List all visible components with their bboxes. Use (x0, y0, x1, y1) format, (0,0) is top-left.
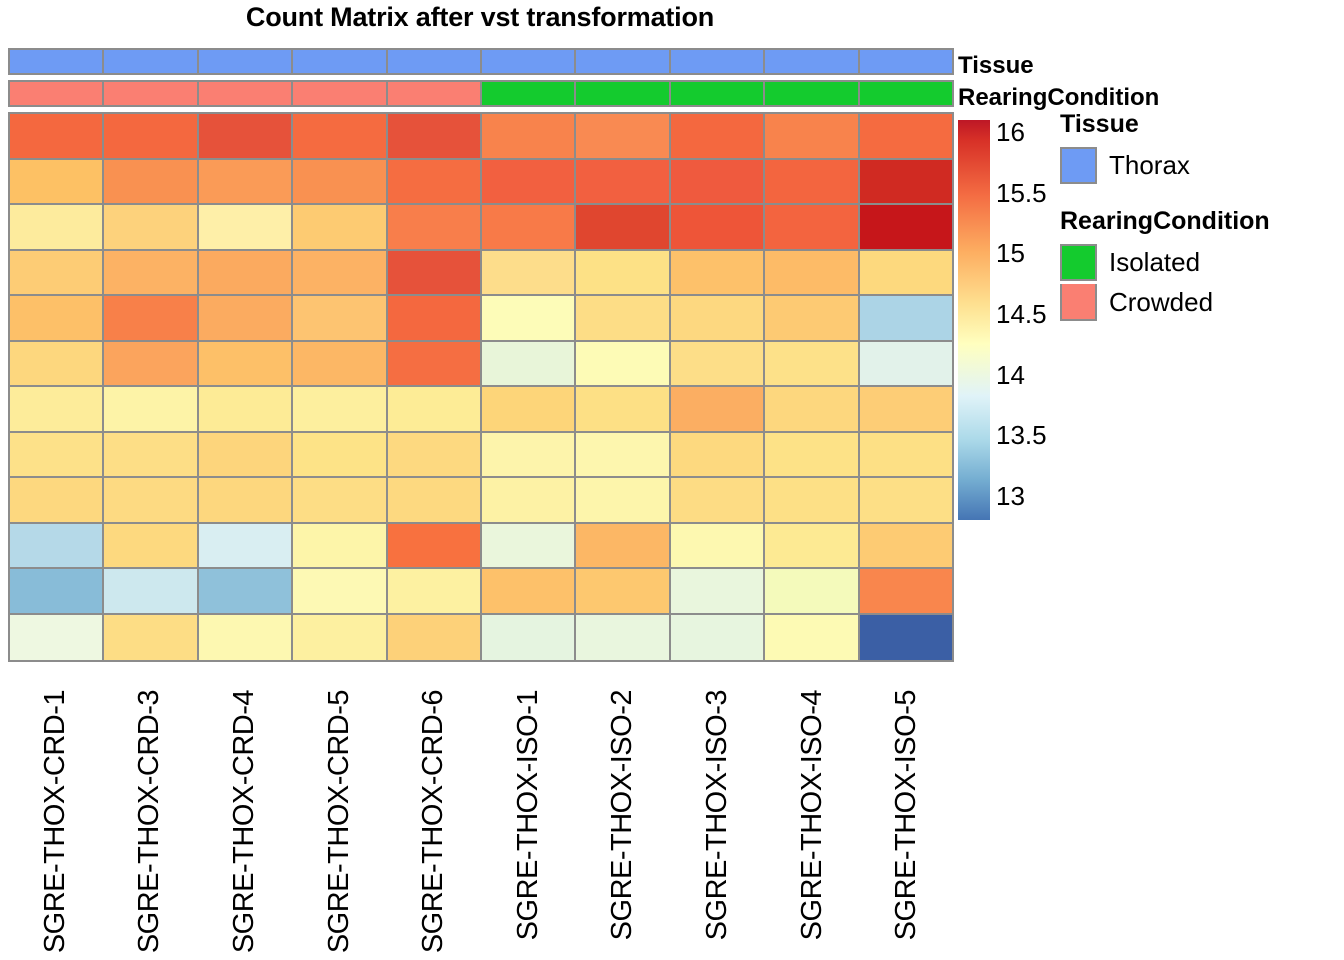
heatmap-cell (671, 160, 765, 204)
heatmap-grid (8, 112, 954, 662)
legend-swatch (1060, 147, 1097, 184)
heatmap-cell (388, 478, 482, 522)
x-axis-tick: SGRE-THOX-CRD-4 (197, 690, 292, 955)
heatmap-cell (10, 524, 104, 568)
colorbar-tick-label: 16 (996, 119, 1025, 145)
heatmap-cell (10, 569, 104, 613)
heatmap-cell (671, 387, 765, 431)
heatmap-row (10, 615, 952, 661)
heatmap-cell (104, 114, 198, 158)
heatmap-row (10, 160, 952, 206)
heatmap-cell (765, 524, 859, 568)
heatmap-cell (860, 569, 952, 613)
page-title: Count Matrix after vst transformation (0, 2, 960, 33)
annotation-label-tissue: Tissue (958, 52, 1034, 80)
heatmap-cell (293, 205, 387, 249)
heatmap-cell (10, 433, 104, 477)
heatmap-cell (765, 478, 859, 522)
heatmap-cell (671, 342, 765, 386)
heatmap-row (10, 296, 952, 342)
heatmap-cell (293, 160, 387, 204)
heatmap-cell (482, 387, 576, 431)
heatmap-cell (860, 524, 952, 568)
heatmap-cell (860, 296, 952, 340)
heatmap-cell (293, 433, 387, 477)
annotation-track-tissue (8, 48, 954, 75)
heatmap-cell (576, 114, 670, 158)
heatmap-cell (10, 478, 104, 522)
heatmap-cell (765, 569, 859, 613)
heatmap-cell (199, 524, 293, 568)
heatmap-cell (10, 251, 104, 295)
heatmap-cell (104, 160, 198, 204)
annotation-cell (10, 50, 104, 73)
heatmap-cell (671, 433, 765, 477)
heatmap-cell (10, 615, 104, 661)
annotation-cell (388, 50, 482, 73)
heatmap-cell (482, 569, 576, 613)
heatmap-cell (10, 114, 104, 158)
heatmap-cell (765, 160, 859, 204)
heatmap-row (10, 342, 952, 388)
heatmap-cell (388, 569, 482, 613)
x-axis-tick: SGRE-THOX-CRD-3 (103, 690, 198, 955)
heatmap-cell (293, 342, 387, 386)
heatmap-cell (388, 342, 482, 386)
heatmap-row (10, 524, 952, 570)
heatmap-cell (671, 114, 765, 158)
heatmap-cell (482, 342, 576, 386)
annotation-cell (576, 82, 670, 105)
heatmap-cell (482, 478, 576, 522)
annotation-cell (765, 50, 859, 73)
annotation-cell (482, 50, 576, 73)
heatmap-cell (10, 296, 104, 340)
heatmap-cell (388, 205, 482, 249)
heatmap-cell (671, 205, 765, 249)
heatmap-cell (860, 342, 952, 386)
heatmap-cell (104, 205, 198, 249)
heatmap-row (10, 114, 952, 160)
colorbar: 1615.51514.51413.513 (958, 120, 998, 520)
heatmap-cell (199, 160, 293, 204)
heatmap-cell (199, 205, 293, 249)
legend-title: RearingCondition (1060, 207, 1340, 236)
heatmap-cell (576, 205, 670, 249)
heatmap-row (10, 569, 952, 615)
heatmap-cell (576, 615, 670, 661)
heatmap-cell (388, 433, 482, 477)
heatmap-cell (104, 342, 198, 386)
x-axis-tick: SGRE-THOX-ISO-2 (576, 690, 671, 955)
heatmap-cell (671, 615, 765, 661)
heatmap-cell (860, 160, 952, 204)
heatmap-cell (765, 296, 859, 340)
heatmap-cell (765, 387, 859, 431)
x-axis-tick-label: SGRE-THOX-ISO-1 (514, 690, 543, 940)
colorbar-tick-label: 15 (996, 240, 1025, 266)
heatmap-cell (104, 569, 198, 613)
heatmap-cell (388, 251, 482, 295)
colorbar-tick-label: 15.5 (996, 180, 1047, 206)
colorbar-gradient (958, 120, 990, 520)
heatmap-cell (10, 387, 104, 431)
heatmap-cell (576, 342, 670, 386)
annotation-cell (293, 50, 387, 73)
x-axis-tick: SGRE-THOX-ISO-4 (765, 690, 860, 955)
annotation-cell (860, 82, 952, 105)
annotation-cell (671, 50, 765, 73)
heatmap-cell (388, 296, 482, 340)
annotation-cell (104, 50, 198, 73)
heatmap-cell (860, 387, 952, 431)
heatmap-cell (104, 296, 198, 340)
colorbar-tick-label: 14 (996, 362, 1025, 388)
annotation-cell (293, 82, 387, 105)
heatmap-cell (671, 296, 765, 340)
legend-block: TissueThorax (1060, 110, 1340, 185)
heatmap-cell (293, 615, 387, 661)
heatmap-cell (482, 114, 576, 158)
x-axis-tick-label: SGRE-THOX-CRD-3 (135, 690, 164, 953)
heatmap-cell (293, 251, 387, 295)
legend-entry[interactable]: Thorax (1060, 145, 1340, 185)
heatmap-cell (860, 478, 952, 522)
x-axis-tick-label: SGRE-THOX-CRD-6 (419, 690, 448, 953)
heatmap-cell (199, 296, 293, 340)
heatmap-cell (765, 615, 859, 661)
heatmap-cell (293, 478, 387, 522)
heatmap-cell (199, 251, 293, 295)
heatmap-plot-area (8, 48, 954, 662)
legend-label: Thorax (1109, 150, 1190, 181)
heatmap-cell (293, 524, 387, 568)
heatmap-cell (104, 251, 198, 295)
heatmap-cell (104, 478, 198, 522)
annotation-track-rearingcondition (8, 80, 954, 107)
annotation-label-rearingcondition: RearingCondition (958, 84, 1159, 112)
annotation-cell (10, 82, 104, 105)
colorbar-tick-label: 14.5 (996, 301, 1047, 327)
heatmap-cell (671, 251, 765, 295)
legend-label: Crowded (1109, 287, 1213, 318)
x-axis-tick: SGRE-THOX-CRD-1 (8, 690, 103, 955)
heatmap-cell (576, 524, 670, 568)
heatmap-cell (671, 478, 765, 522)
heatmap-cell (293, 114, 387, 158)
heatmap-cell (482, 251, 576, 295)
heatmap-cell (576, 387, 670, 431)
annotation-cell (482, 82, 576, 105)
heatmap-cell (199, 114, 293, 158)
heatmap-cell (293, 387, 387, 431)
heatmap-cell (576, 478, 670, 522)
heatmap-row (10, 205, 952, 251)
x-axis-tick: SGRE-THOX-ISO-1 (481, 690, 576, 955)
heatmap-cell (482, 433, 576, 477)
x-axis-tick: SGRE-THOX-ISO-3 (670, 690, 765, 955)
heatmap-cell (860, 251, 952, 295)
heatmap-cell (860, 615, 952, 661)
heatmap-cell (482, 524, 576, 568)
heatmap-cell (765, 205, 859, 249)
heatmap-cell (482, 205, 576, 249)
heatmap-cell (293, 569, 387, 613)
heatmap-cell (671, 524, 765, 568)
legend-entry[interactable]: Isolated (1060, 242, 1340, 282)
heatmap-cell (199, 615, 293, 661)
legend-entry-list: IsolatedCrowded (1060, 242, 1340, 322)
heatmap-cell (860, 205, 952, 249)
heatmap-cell (765, 251, 859, 295)
legend-panel: TissueThoraxRearingConditionIsolatedCrow… (1060, 110, 1340, 344)
annotation-cell (860, 50, 952, 73)
x-axis-tick-label: SGRE-THOX-CRD-4 (230, 690, 259, 953)
heatmap-cell (388, 160, 482, 204)
heatmap-cell (576, 160, 670, 204)
annotation-cell (765, 82, 859, 105)
x-axis-tick: SGRE-THOX-ISO-5 (859, 690, 954, 955)
legend-block: RearingConditionIsolatedCrowded (1060, 207, 1340, 322)
heatmap-cell (576, 569, 670, 613)
heatmap-cell (104, 433, 198, 477)
x-axis-tick-label: SGRE-THOX-CRD-5 (325, 690, 354, 953)
x-axis-tick: SGRE-THOX-CRD-6 (386, 690, 481, 955)
annotation-cell (388, 82, 482, 105)
heatmap-cell (388, 615, 482, 661)
heatmap-cell (10, 160, 104, 204)
heatmap-cell (576, 296, 670, 340)
heatmap-cell (293, 296, 387, 340)
heatmap-cell (576, 251, 670, 295)
heatmap-cell (388, 114, 482, 158)
x-axis-tick-label: SGRE-THOX-CRD-1 (41, 690, 70, 953)
heatmap-row (10, 478, 952, 524)
x-axis-tick-label: SGRE-THOX-ISO-5 (892, 690, 921, 940)
legend-label: Isolated (1109, 247, 1200, 278)
legend-entry-list: Thorax (1060, 145, 1340, 185)
heatmap-row (10, 387, 952, 433)
x-axis-tick: SGRE-THOX-CRD-5 (292, 690, 387, 955)
legend-entry[interactable]: Crowded (1060, 282, 1340, 322)
heatmap-cell (104, 524, 198, 568)
heatmap-cell (482, 160, 576, 204)
x-axis-tick-label: SGRE-THOX-ISO-3 (703, 690, 732, 940)
annotation-cell (104, 82, 198, 105)
x-axis-tick-labels: SGRE-THOX-CRD-1SGRE-THOX-CRD-3SGRE-THOX-… (8, 690, 954, 955)
heatmap-cell (199, 387, 293, 431)
annotation-cell (199, 50, 293, 73)
heatmap-row (10, 251, 952, 297)
heatmap-cell (482, 296, 576, 340)
heatmap-cell (199, 569, 293, 613)
colorbar-tick-label: 13 (996, 483, 1025, 509)
heatmap-cell (765, 114, 859, 158)
heatmap-cell (765, 342, 859, 386)
heatmap-cell (482, 615, 576, 661)
heatmap-cell (860, 433, 952, 477)
heatmap-cell (765, 433, 859, 477)
heatmap-cell (10, 342, 104, 386)
heatmap-cell (199, 478, 293, 522)
colorbar-tick-label: 13.5 (996, 422, 1047, 448)
heatmap-cell (860, 114, 952, 158)
heatmap-cell (388, 524, 482, 568)
heatmap-cell (576, 433, 670, 477)
heatmap-cell (199, 433, 293, 477)
heatmap-cell (388, 387, 482, 431)
heatmap-cell (199, 342, 293, 386)
annotation-cell (671, 82, 765, 105)
annotation-cell (199, 82, 293, 105)
heatmap-cell (104, 615, 198, 661)
legend-title: Tissue (1060, 110, 1340, 139)
legend-swatch (1060, 244, 1097, 281)
heatmap-row (10, 433, 952, 479)
heatmap-cell (671, 569, 765, 613)
x-axis-tick-label: SGRE-THOX-ISO-2 (608, 690, 637, 940)
heatmap-cell (104, 387, 198, 431)
x-axis-tick-label: SGRE-THOX-ISO-4 (798, 690, 827, 940)
heatmap-cell (10, 205, 104, 249)
annotation-cell (576, 50, 670, 73)
legend-swatch (1060, 284, 1097, 321)
